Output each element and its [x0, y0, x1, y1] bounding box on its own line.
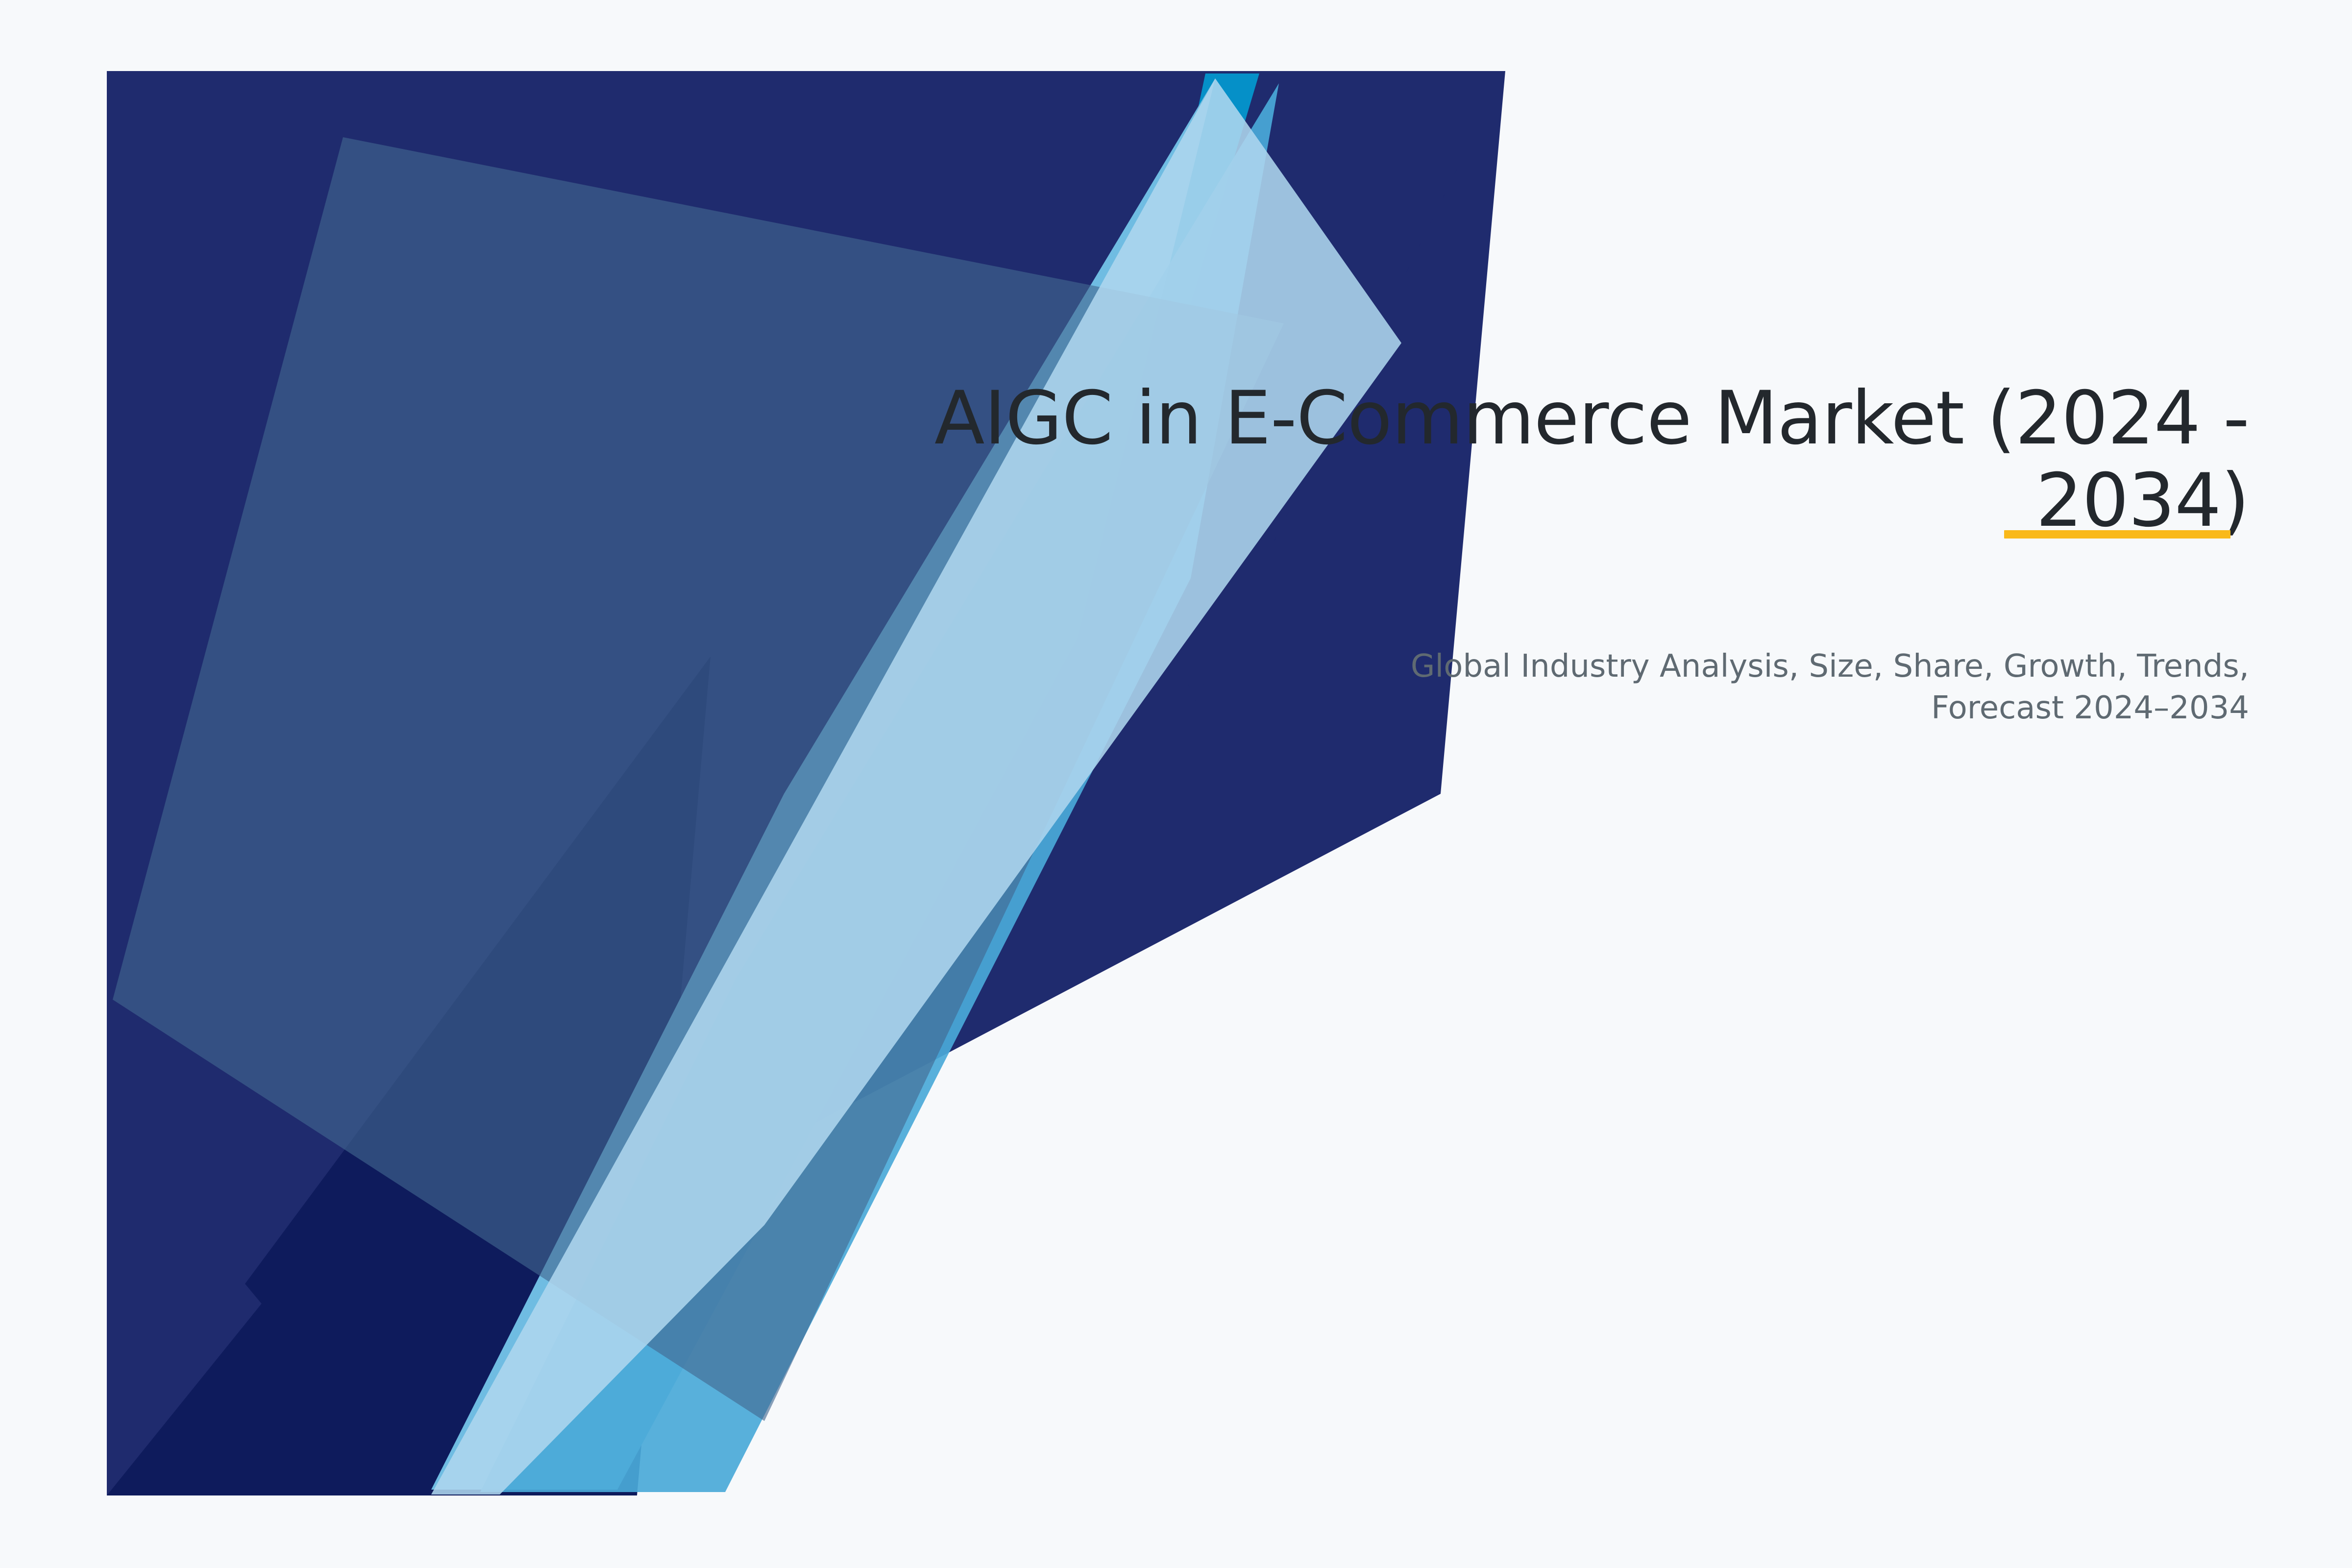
shape-steel-overlay — [113, 137, 1284, 1421]
artwork-shape-group — [107, 71, 1505, 1495]
page-title: AIGC in E-Commerce Market (2024 - 2034) — [784, 377, 2249, 542]
cover-slide: AIGC in E-Commerce Market (2024 - 2034) … — [0, 0, 2352, 1568]
shape-sky-blue-band — [431, 78, 1215, 1490]
shape-deep-navy-lower — [245, 657, 710, 1495]
cover-artwork — [0, 0, 2352, 1568]
shape-pale-blue-overlay — [431, 78, 1401, 1494]
shape-deep-navy-spike — [107, 657, 710, 1495]
shape-navy-upper-band — [107, 71, 1505, 1495]
title-accent-rule — [2004, 530, 2230, 539]
page-subtitle: Global Industry Analysis, Size, Share, G… — [1269, 646, 2249, 729]
shape-mid-blue-band — [480, 83, 1279, 1492]
title-block: AIGC in E-Commerce Market (2024 - 2034) — [784, 377, 2249, 542]
